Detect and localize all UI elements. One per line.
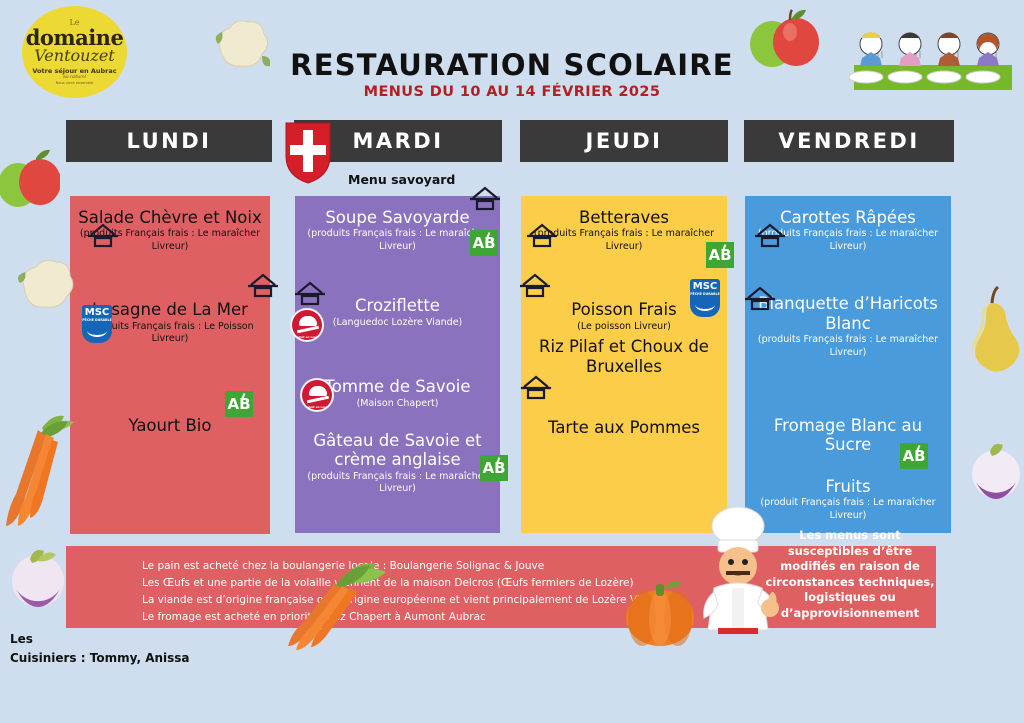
ab-organic-label: AB [706,242,734,268]
dish-name: Riz Pilaf et Choux de Bruxelles [529,337,719,376]
msc-text: MSC [693,281,718,292]
cauliflower-image [212,14,270,74]
day-header-lundi: LUNDI [66,120,272,162]
ab-organic-label: AB [470,230,498,256]
logo-domaine-text: domaine [26,27,124,48]
day-header-jeudi: JEUDI [520,120,728,162]
carrots-image [2,410,80,535]
cooks-label: Les [10,630,190,649]
apples-image [744,8,822,70]
menu-item: Croziflette (Languedoc Lozère Viande) [303,296,492,329]
msc-text: MSC [85,307,110,318]
lozere-producer-label: Produit en Lozère [300,378,334,412]
msc-subtext: PÊCHE DURABLE [82,319,112,322]
menu-savoyard-note: Menu savoyard [348,172,455,187]
farm-house-icon [295,280,325,306]
turnip-image [6,545,70,609]
savoie-coat-of-arms-icon [285,122,331,184]
dish-origin: (produits Français frais : Le maraîcher … [753,334,943,360]
cauliflower-image [14,255,80,315]
cooks-credit: Les Cuisiniers : Tommy, Anissa [10,630,190,668]
chef-hat-icon [299,316,317,326]
dish-origin: (produits Français frais : Le maraîcher … [303,471,492,497]
menu-item: Riz Pilaf et Choux de Bruxelles [529,337,719,376]
dish-name: Blanquette d’Haricots Blanc [753,294,943,333]
dish-origin: (Languedoc Lozère Viande) [303,317,492,330]
dish-name: Croziflette [303,296,492,315]
menu-item: Tarte aux Pommes [529,418,719,437]
menu-poster: Le domaine Ventouzet Votre séjour en Aub… [0,0,1024,723]
carrots-image [288,558,398,654]
dish-name: Yaourt Bio [78,416,262,435]
chef-label-text: Produit en Lozère [291,335,323,339]
farm-house-icon [521,374,551,400]
chef-label-text: Produit en Lozère [301,405,333,409]
dish-origin: (Le poisson Livreur) [529,321,719,334]
dish-name: Tarte aux Pommes [529,418,719,437]
children-at-table-illustration [848,18,1018,96]
dish-name: Soupe Savoyarde [303,208,492,227]
ab-text: AB [902,447,925,465]
farm-house-icon [520,272,550,298]
farm-house-icon [527,222,557,248]
cooks-names: Cuisiniers : Tommy, Anissa [10,649,190,668]
dish-origin: (produits Français frais : Le maraîcher … [303,228,492,254]
farm-house-icon [470,185,500,211]
apples-image [0,140,60,220]
menu-item: Betteraves (produits Français frais : Le… [529,208,719,254]
chef-hat-icon [309,386,327,396]
msc-subtext: PÊCHE DURABLE [690,293,720,296]
dish-name: Betteraves [529,208,719,227]
farm-house-icon [248,272,278,298]
msc-fish-icon [695,298,715,311]
ab-organic-label: AB [900,443,928,469]
lozere-producer-label: Produit en Lozère [290,308,324,342]
ab-organic-label: AB [225,391,253,417]
day-header-vendredi: VENDREDI [744,120,954,162]
dish-name: Gâteau de Savoie et crème anglaise [303,431,492,470]
ab-text: AB [227,395,250,413]
farm-house-icon [755,222,785,248]
turnip-image [968,440,1024,502]
dish-name: Fruits [753,477,943,496]
ab-text: AB [472,234,495,252]
menu-item: Yaourt Bio [78,416,262,435]
farm-house-icon [745,285,775,311]
ab-text: AB [708,246,731,264]
menu-item: Blanquette d’Haricots Blanc (produits Fr… [753,294,943,360]
dish-origin: (produits Français frais : Le maraîcher … [529,228,719,254]
pear-image [964,285,1022,375]
menu-item: Gâteau de Savoie et crème anglaise (prod… [303,431,492,497]
msc-certification-label: MSC PÊCHE DURABLE [82,305,112,343]
menu-item: Soupe Savoyarde (produits Français frais… [303,208,492,254]
menu-change-warning: Les menus sont susceptibles d’être modif… [760,528,940,621]
pumpkin-image [620,572,700,650]
ab-text: AB [482,459,505,477]
ab-organic-label: AB [480,455,508,481]
msc-certification-label: MSC PÊCHE DURABLE [690,279,720,317]
msc-fish-icon [87,324,107,337]
farm-house-icon [88,222,118,248]
